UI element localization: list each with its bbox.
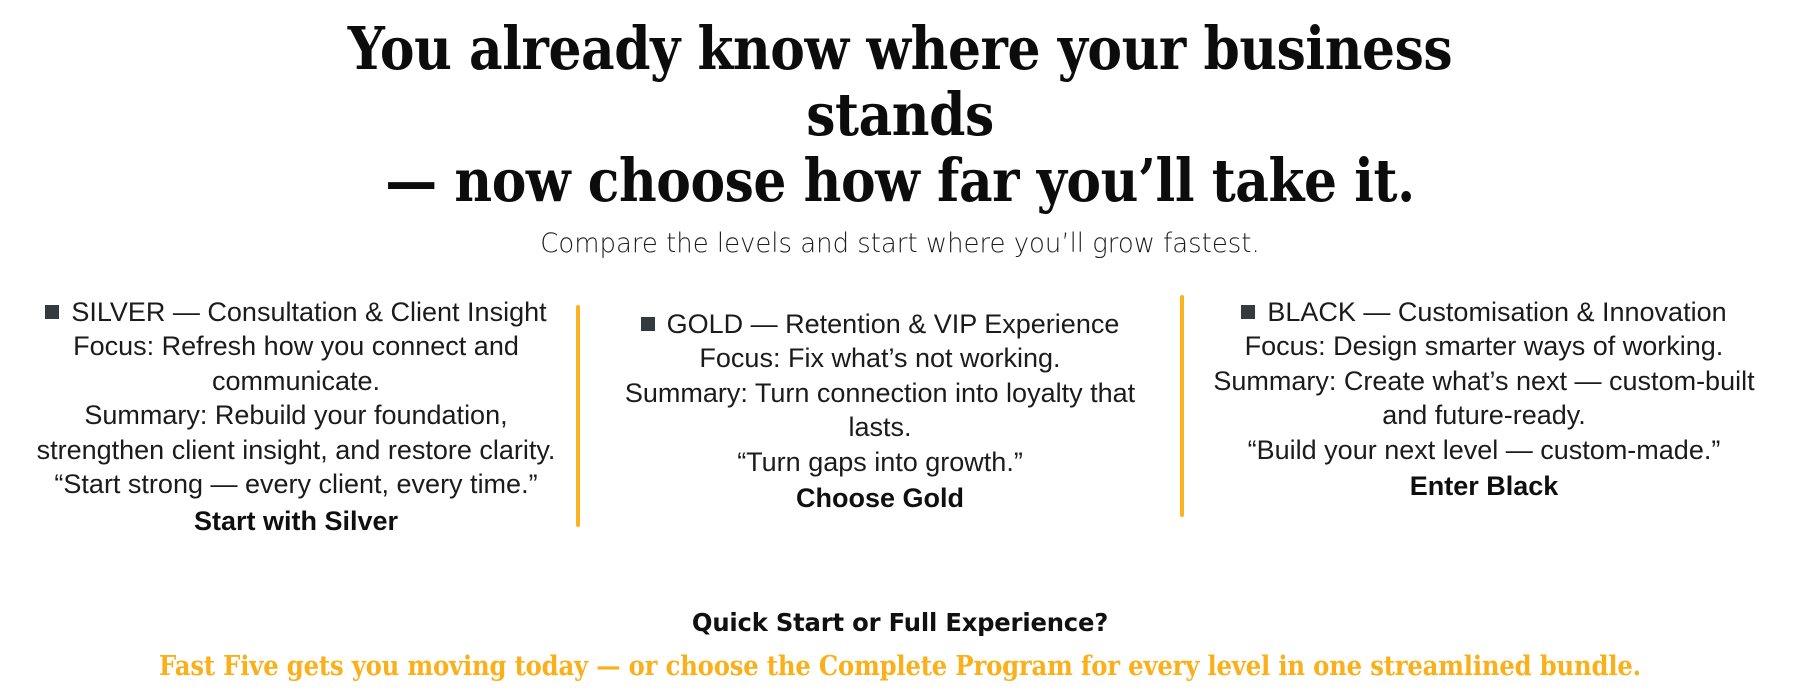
tier-card-silver: SILVER — Consultation & Client Insight F… (16, 295, 576, 539)
tier-silver-title-row: SILVER — Consultation & Client Insight (30, 295, 562, 330)
tier-gold-title-row: GOLD — Retention & VIP Experience (594, 307, 1166, 342)
tier-black-focus: Focus: Design smarter ways of working. (1198, 329, 1770, 364)
tier-card-gold: GOLD — Retention & VIP Experience Focus:… (580, 295, 1180, 517)
tier-gold-quote: “Turn gaps into growth.” (594, 445, 1166, 480)
tier-gold-cta-button[interactable]: Choose Gold (594, 481, 1166, 516)
footer-section: Quick Start or Full Experience? Fast Fiv… (0, 608, 1800, 682)
headline-line-2: — now choose how far you’ll take it. (310, 148, 1489, 214)
tier-silver-summary: Summary: Rebuild your foundation, streng… (30, 398, 562, 467)
page-title: You already know where your business sta… (310, 16, 1489, 214)
tier-gold-summary: Summary: Turn connection into loyalty th… (594, 376, 1166, 445)
tier-gold-focus: Focus: Fix what’s not working. (594, 341, 1166, 376)
pricing-tiers-page: You already know where your business sta… (0, 0, 1800, 700)
tier-black-title-row: BLACK — Customisation & Innovation (1198, 295, 1770, 330)
hero-section: You already know where your business sta… (0, 0, 1800, 261)
tier-silver-focus: Focus: Refresh how you connect and commu… (30, 329, 562, 398)
tier-black-title: BLACK — Customisation & Innovation (1267, 297, 1726, 327)
tier-silver-cta-button[interactable]: Start with Silver (30, 504, 562, 539)
square-bullet-icon (1241, 305, 1255, 319)
footer-question: Quick Start or Full Experience? (27, 608, 1773, 637)
tier-silver-quote: “Start strong — every client, every time… (30, 467, 562, 502)
tier-card-black: BLACK — Customisation & Innovation Focus… (1184, 295, 1784, 505)
square-bullet-icon (45, 305, 59, 319)
tier-black-summary: Summary: Create what’s next — custom-bui… (1198, 364, 1770, 433)
square-bullet-icon (641, 317, 655, 331)
headline-line-1: You already know where your business sta… (348, 14, 1452, 149)
footer-note: Fast Five gets you moving today — or cho… (90, 651, 1710, 682)
tier-black-quote: “Build your next level — custom-made.” (1198, 433, 1770, 468)
tier-black-cta-button[interactable]: Enter Black (1198, 469, 1770, 504)
tier-silver-title: SILVER — Consultation & Client Insight (71, 297, 546, 327)
tier-gold-title: GOLD — Retention & VIP Experience (667, 309, 1120, 339)
page-subtitle: Compare the levels and start where you’l… (36, 228, 1764, 260)
tier-columns: SILVER — Consultation & Client Insight F… (0, 295, 1800, 539)
